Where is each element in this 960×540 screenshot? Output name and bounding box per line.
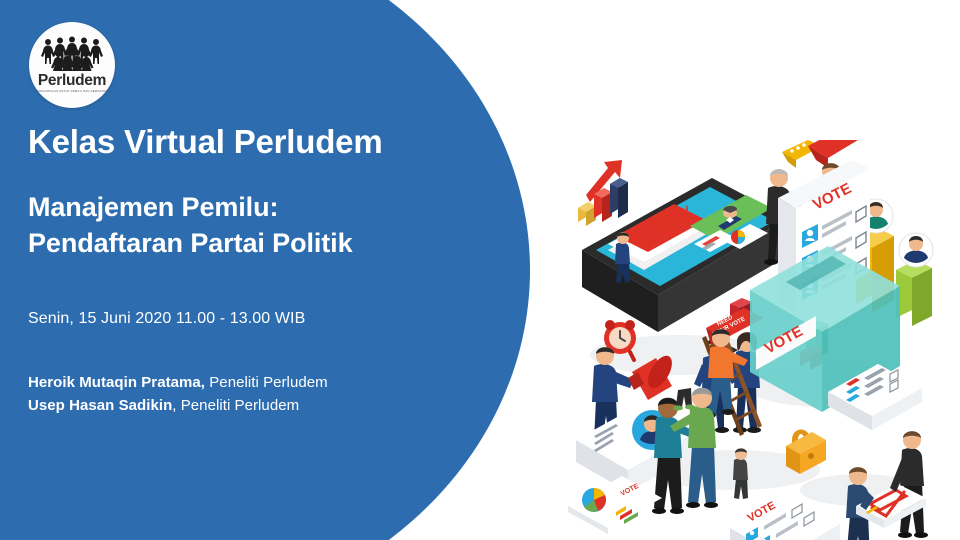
report-sheet: VOTE [568,476,662,534]
speaker-role: , Peneliti Perludem [172,397,299,414]
page-subtitle: Manajemen Pemilu: Pendaftaran Partai Pol… [28,190,353,261]
subtitle-line-1: Manajemen Pemilu: [28,190,353,226]
slide-root: Perludem PERKUMPULAN UNTUK PEMILU DAN DE… [0,0,960,540]
speaker-name: Usep Hasan Sadikin [28,397,172,414]
logo-tagline: PERKUMPULAN UNTUK PEMILU DAN DEMOKRASI [35,91,109,94]
speaker-list: Heroik Mutaqin Pratama, Peneliti Perlude… [28,371,328,418]
figure-small-center [733,448,748,499]
speaker-row: Heroik Mutaqin Pratama, Peneliti Perlude… [28,371,328,394]
speaker-name: Heroik Mutaqin Pratama, [28,374,205,391]
speaker-role: Peneliti Perludem [205,374,328,391]
page-title: Kelas Virtual Perludem [28,124,382,160]
avatar-second-place [899,233,933,267]
speaker-row: Usep Hasan Sadikin, Peneliti Perludem [28,394,328,417]
figure-small-green-shoes [673,388,695,411]
padlock-icon [786,430,826,475]
logo-wordmark: Perludem [38,73,106,89]
election-illustration: ELECTION DAY! [560,140,960,540]
event-datetime: Senin, 15 Juni 2020 11.00 - 13.00 WIB [28,310,305,328]
perludem-logo: Perludem PERKUMPULAN UNTUK PEMILU DAN DE… [29,22,115,108]
subtitle-line-2: Pendaftaran Partai Politik [28,226,353,262]
people-circle-logo-icon [40,36,104,72]
growth-chart-icon [578,160,628,226]
